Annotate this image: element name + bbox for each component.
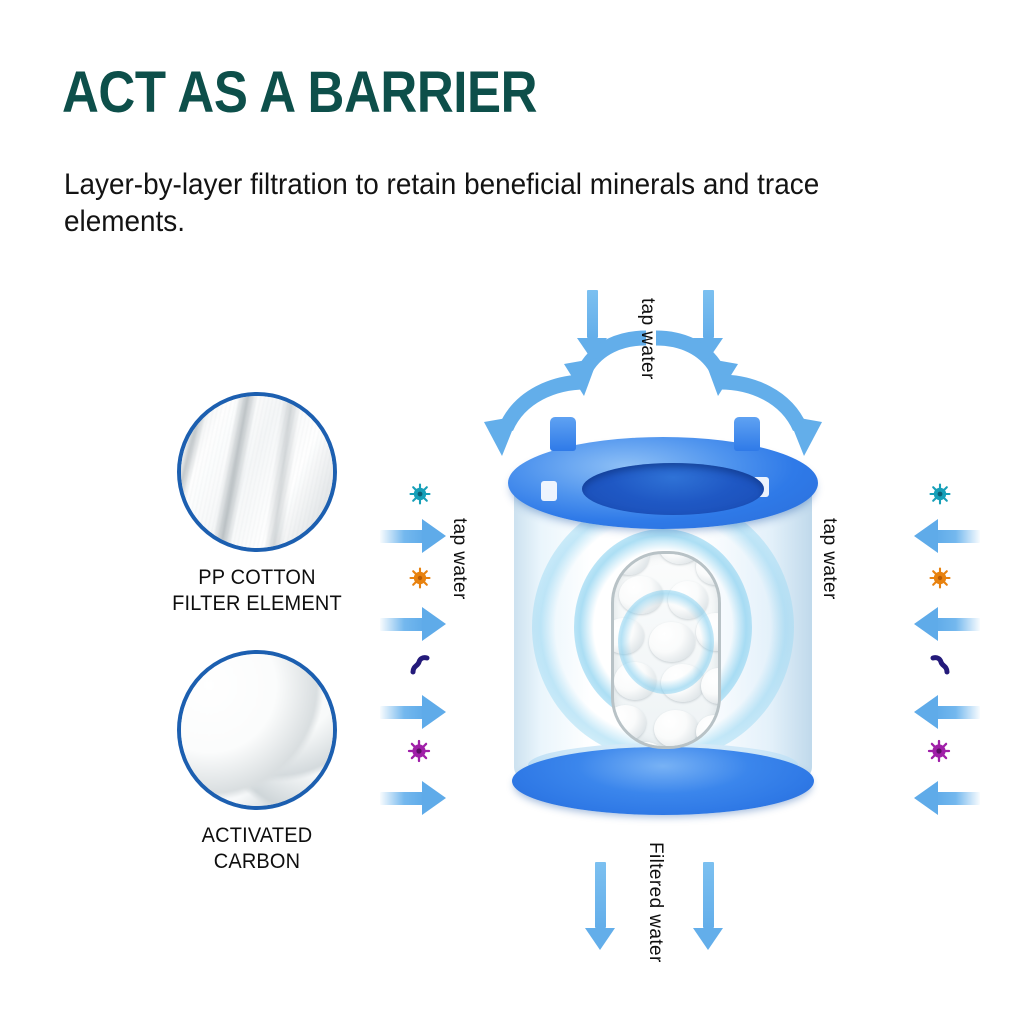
- activated-carbon-label-line2: CARBON: [148, 849, 367, 875]
- virus-purple-icon-right: [926, 738, 952, 764]
- virus-purple-icon-left: [406, 738, 432, 764]
- outflow-arrow-bottom-left: [585, 862, 615, 950]
- pp-cotton-circle: [177, 392, 337, 552]
- filter-cartridge: [498, 425, 828, 825]
- virus-teal-icon-right: [928, 482, 952, 506]
- cap-tab-right: [734, 417, 760, 451]
- flow-label-left: tap water: [448, 518, 470, 600]
- pp-cotton-label: PP COTTON FILTER ELEMENT: [148, 565, 367, 617]
- activated-carbon-photo: [177, 650, 337, 810]
- carbon-pellets: [611, 551, 721, 749]
- inflow-arrow-right-1: [914, 518, 980, 554]
- inflow-arrow-left-3: [380, 694, 446, 730]
- carbon-capsule-window: [611, 551, 721, 749]
- cartridge-inlet-hole: [582, 463, 764, 515]
- activated-carbon-circle: [177, 650, 337, 810]
- filtration-diagram: tap water: [380, 270, 980, 990]
- activated-carbon-label: ACTIVATED CARBON: [148, 823, 367, 875]
- flow-label-bottom: Filtered water: [644, 842, 666, 963]
- inflow-arrow-right-3: [914, 694, 980, 730]
- inflow-arrow-right-2: [914, 606, 980, 642]
- activated-carbon-label-line1: ACTIVATED: [148, 823, 367, 849]
- pp-cotton-label-line1: PP COTTON: [148, 565, 367, 591]
- page-subtitle: Layer-by-layer filtration to retain bene…: [64, 166, 901, 240]
- inflow-arrow-left-4: [380, 780, 446, 816]
- virus-orange-icon-right: [928, 566, 952, 590]
- callout-activated-carbon: ACTIVATED CARBON: [142, 650, 372, 875]
- callout-pp-cotton: PP COTTON FILTER ELEMENT: [142, 392, 372, 617]
- cap-tab-left: [550, 417, 576, 451]
- virus-teal-icon-left: [408, 482, 432, 506]
- pp-cotton-photo: [177, 392, 337, 552]
- flow-label-top: tap water: [636, 298, 658, 380]
- inflow-arrow-left-2: [380, 606, 446, 642]
- outflow-arrow-bottom-right: [693, 862, 723, 950]
- cap-notch-left: [541, 481, 557, 501]
- pp-cotton-label-line2: FILTER ELEMENT: [148, 591, 367, 617]
- virus-orange-icon-left: [408, 566, 432, 590]
- cartridge-base-ring: [512, 747, 814, 815]
- page-title: ACT AS A BARRIER: [62, 62, 537, 124]
- inflow-arrow-right-4: [914, 780, 980, 816]
- bacillus-navy-icon-right: [926, 652, 952, 678]
- inflow-arrow-left-1: [380, 518, 446, 554]
- bacillus-navy-icon-left: [408, 652, 434, 678]
